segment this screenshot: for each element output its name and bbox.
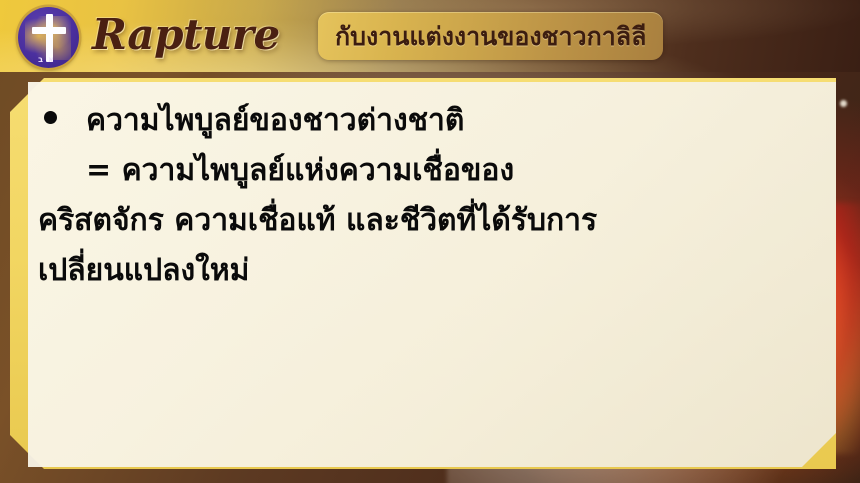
church-logo-icon: אב xyxy=(18,7,79,68)
presentation-slide: אב Rapture กับงานแต่งงานของชาวกาลิลี ควา… xyxy=(0,0,860,483)
bullet-line-1: ความไพบูลย์ของชาวต่างชาติ xyxy=(34,96,826,146)
cross-icon xyxy=(32,27,66,34)
hebrew-letters-label: אב xyxy=(18,56,79,64)
title-banner-label: กับงานแต่งงานของชาวกาลิลี xyxy=(335,24,646,49)
content-panel: ความไพบูลย์ของชาวต่างชาติ = ความไพบูลย์แ… xyxy=(28,82,836,467)
rapture-wordmark: Rapture xyxy=(92,7,280,63)
bullet-list: ความไพบูลย์ของชาวต่างชาติ = ความไพบูลย์แ… xyxy=(28,82,836,467)
title-banner: กับงานแต่งงานของชาวกาลิลี xyxy=(318,12,663,60)
bullet-point-icon xyxy=(44,111,57,124)
slide-header: אב Rapture กับงานแต่งงานของชาวกาลิลี xyxy=(0,0,860,72)
bokeh-particle xyxy=(840,100,847,107)
bullet-line-4: เปลี่ยนแปลงใหม่ xyxy=(34,246,826,296)
bullet-line-3: คริสตจักร ความเชื่อแท้ และชีวิตที่ได้รับ… xyxy=(34,196,826,246)
bullet-line-2: = ความไพบูลย์แห่งความเชื่อของ xyxy=(34,146,826,196)
